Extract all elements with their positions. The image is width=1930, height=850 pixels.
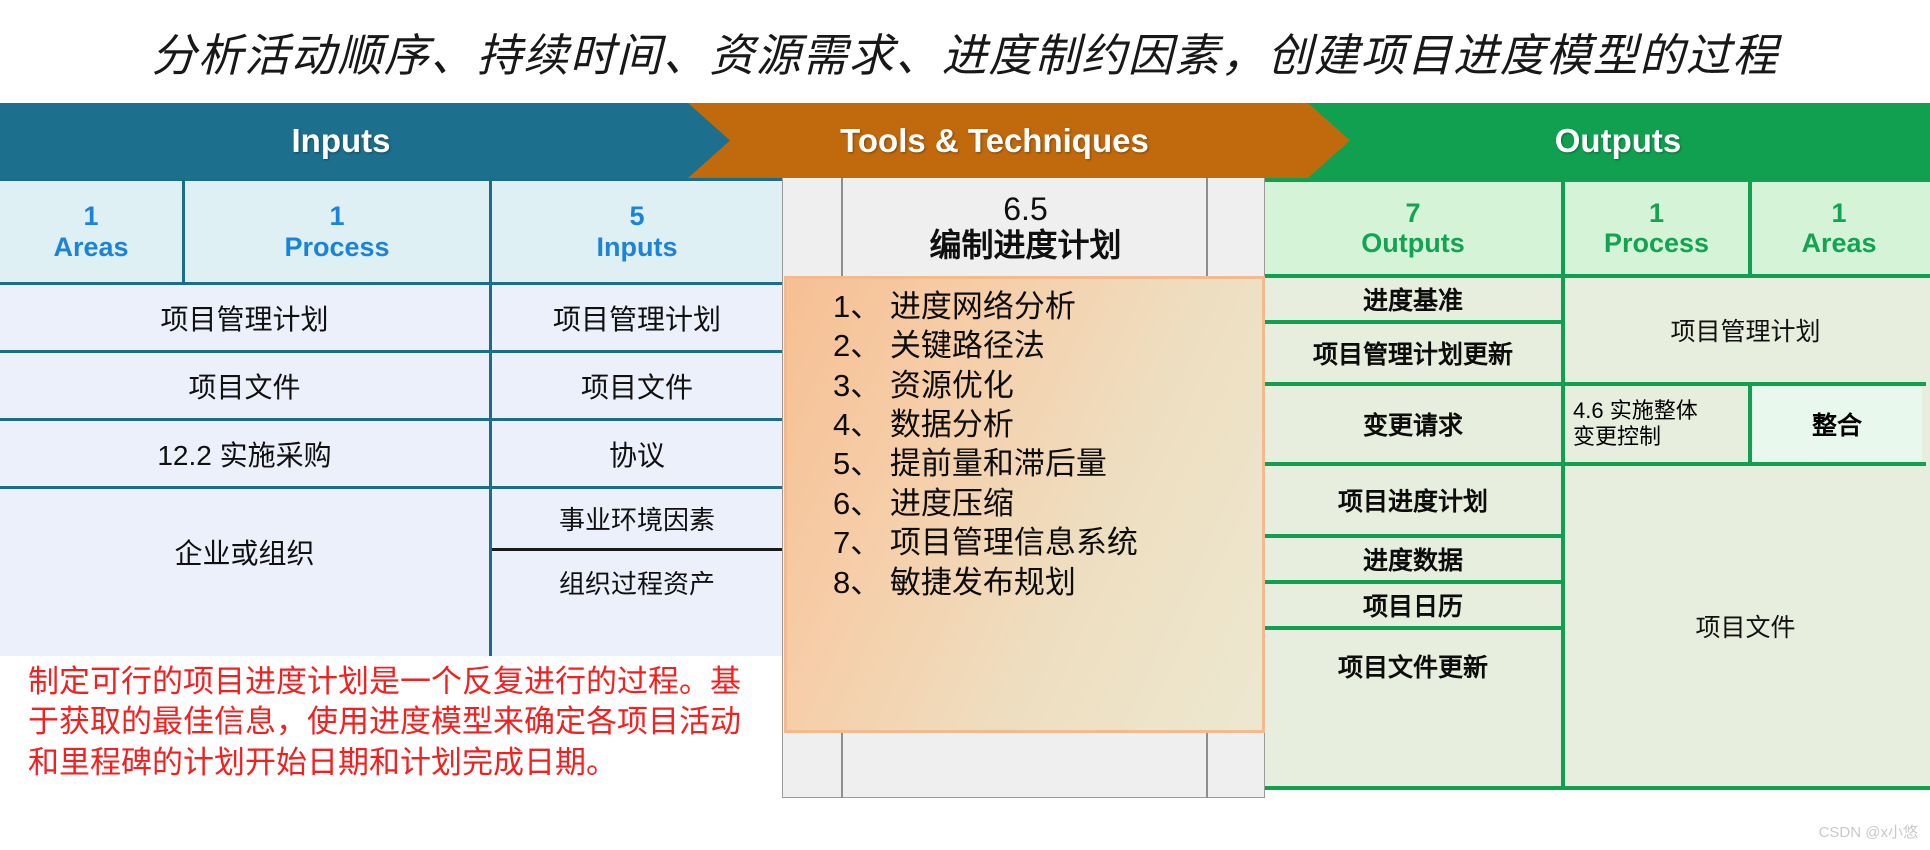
list-item: 协议 (492, 421, 782, 489)
inputs-right-column: 项目管理计划 项目文件 协议 事业环境因素 组织过程资产 (492, 285, 782, 656)
list-item: 变更请求 (1265, 386, 1561, 466)
list-item: 进度数据 (1265, 538, 1561, 584)
list-item: 进度基准 (1265, 278, 1561, 324)
mapping-change-request-row: 4.6 实施整体 变更控制 整合 (1565, 386, 1926, 466)
outputs-header-process-count: 1 (1649, 198, 1664, 228)
process-number: 6.5 (1003, 192, 1047, 228)
inputs-header-inputs: 5 Inputs (492, 181, 782, 282)
list-item: 4、 数据分析 (833, 405, 1258, 444)
tools-techniques-list-box: 1、 进度网络分析 2、 关键路径法 3、 资源优化 4、 数据分析 5、 提前… (784, 276, 1265, 733)
inputs-header-process-label: Process (284, 232, 389, 262)
process-title: 6.5 编制进度计划 (845, 182, 1206, 274)
outputs-mapping-column: 项目管理计划 4.6 实施整体 变更控制 整合 项目文件 (1565, 278, 1926, 786)
list-item: 3、 资源优化 (833, 366, 1258, 405)
outputs-table: 7 Outputs 1 Process 1 Areas 进度基准 项目管理计划更… (1265, 178, 1930, 790)
outputs-table-body: 进度基准 项目管理计划更新 变更请求 项目进度计划 进度数据 项目日历 项目文件… (1265, 278, 1930, 786)
banner-section-tools: Tools & Techniques (645, 103, 1350, 178)
page-title: 分析活动顺序、持续时间、资源需求、进度制约因素，创建项目进度模型的过程 (151, 19, 1779, 84)
banner-section-outputs: Outputs (1262, 103, 1930, 178)
list-item: 6、 进度压缩 (833, 484, 1258, 523)
list-item: 2、 关键路径法 (833, 326, 1258, 365)
outputs-header-areas: 1 Areas (1752, 182, 1926, 274)
inputs-header-areas-label: Areas (53, 232, 128, 262)
mapping-change-control-process: 4.6 实施整体 变更控制 (1565, 386, 1752, 462)
list-item: 1、 进度网络分析 (833, 287, 1258, 326)
list-item: 项目日历 (1265, 584, 1561, 630)
inputs-header-areas: 1 Areas (0, 181, 185, 282)
outputs-header-areas-label: Areas (1801, 228, 1876, 258)
inputs-header-inputs-label: Inputs (597, 232, 678, 262)
list-item: 项目进度计划 (1265, 466, 1561, 538)
table-row: 项目管理计划 (0, 285, 489, 353)
explanatory-note: 制定可行的项目进度计划是一个反复进行的过程。基于获取的最佳信息，使用进度模型来确… (28, 662, 758, 783)
banner-label-outputs: Outputs (1262, 122, 1930, 160)
list-item: 5、 提前量和滞后量 (833, 444, 1258, 483)
mapping-knowledge-area-integration: 整合 (1752, 386, 1922, 462)
inputs-left-column: 项目管理计划 项目文件 12.2 实施采购 企业或组织 (0, 285, 492, 656)
banner-label-inputs: Inputs (0, 122, 730, 160)
list-item: 7、 项目管理信息系统 (833, 523, 1258, 562)
list-item: 项目文件更新 (1265, 630, 1561, 702)
banner-label-tools: Tools & Techniques (645, 122, 1350, 160)
process-name: 编制进度计划 (929, 228, 1121, 264)
inputs-header-areas-count: 1 (83, 201, 98, 231)
outputs-table-header-row: 7 Outputs 1 Process 1 Areas (1265, 182, 1930, 278)
list-item: 项目文件 (492, 353, 782, 421)
outputs-header-areas-count: 1 (1831, 198, 1846, 228)
list-item: 8、 敏捷发布规划 (833, 563, 1258, 602)
change-control-line-1: 4.6 实施整体 (1573, 398, 1698, 423)
table-row: 企业或组织 (0, 489, 489, 614)
change-control-line-2: 变更控制 (1573, 424, 1661, 449)
list-item: 项目管理计划更新 (1265, 324, 1561, 386)
outputs-header-outputs-count: 7 (1405, 198, 1420, 228)
slide-title-bar: 分析活动顺序、持续时间、资源需求、进度制约因素，创建项目进度模型的过程 (0, 0, 1930, 103)
inputs-header-inputs-count: 5 (629, 201, 644, 231)
tools-techniques-list: 1、 进度网络分析 2、 关键路径法 3、 资源优化 4、 数据分析 5、 提前… (833, 287, 1258, 602)
tools-techniques-panel: 6.5 编制进度计划 1、 进度网络分析 2、 关键路径法 3、 资源优化 4、… (782, 178, 1265, 798)
itto-banner: Outputs Tools & Techniques Inputs (0, 103, 1930, 178)
mapping-project-documents: 项目文件 (1565, 466, 1926, 786)
outputs-header-outputs-label: Outputs (1361, 228, 1464, 258)
table-row: 项目文件 (0, 353, 489, 421)
outputs-header-process: 1 Process (1565, 182, 1752, 274)
table-row: 12.2 实施采购 (0, 421, 489, 489)
inputs-table-body: 项目管理计划 项目文件 12.2 实施采购 企业或组织 项目管理计划 项目文件 … (0, 285, 782, 656)
outputs-header-outputs: 7 Outputs (1265, 182, 1565, 274)
mapping-project-management-plan: 项目管理计划 (1565, 278, 1926, 386)
outputs-list-column: 进度基准 项目管理计划更新 变更请求 项目进度计划 进度数据 项目日历 项目文件… (1265, 278, 1565, 786)
list-item: 事业环境因素 (492, 489, 782, 551)
inputs-header-process: 1 Process (185, 181, 492, 282)
watermark: CSDN @x小悠 (1819, 821, 1918, 842)
inputs-table-header-row: 1 Areas 1 Process 5 Inputs (0, 181, 782, 285)
inputs-table: 1 Areas 1 Process 5 Inputs 项目管理计划 项目文件 1… (0, 178, 782, 656)
list-item: 组织过程资产 (492, 551, 782, 613)
inputs-header-process-count: 1 (329, 201, 344, 231)
outputs-header-process-label: Process (1604, 228, 1709, 258)
banner-section-inputs: Inputs (0, 103, 730, 178)
list-item: 项目管理计划 (492, 285, 782, 353)
